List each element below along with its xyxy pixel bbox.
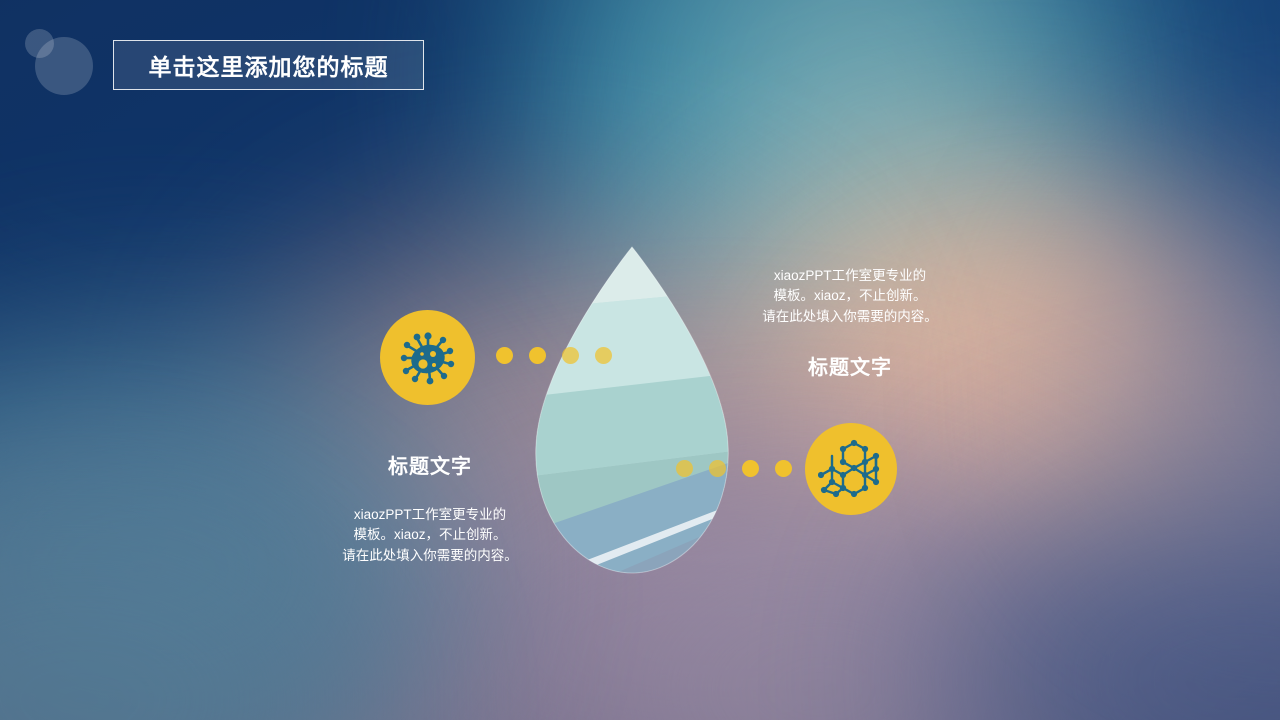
left-heading: 标题文字 [280,450,580,479]
connector-dot [562,347,579,364]
connector-dot [775,460,792,477]
connector-dot [496,347,513,364]
right-heading: 标题文字 [700,351,1000,380]
connector-dot [529,347,546,364]
connector-dot [676,460,693,477]
slide-title-box[interactable]: 单击这里添加您的标题 [113,40,424,90]
connector-dot [742,460,759,477]
bokeh-blob-peach [700,170,1280,670]
decorative-circle-large [35,37,93,95]
connector-dot [709,460,726,477]
bokeh-blob-navy-right [980,0,1280,420]
right-text-block: xiaozPPT工作室更专业的 模板。xiaoz，不止创新。 请在此处填入你需要… [700,266,1000,380]
bokeh-blob-blue-bottom-right [940,470,1280,720]
right-body-line: 请在此处填入你需要的内容。 [700,307,1000,327]
page-title: 单击这里添加您的标题 [149,48,389,82]
right-body-text: xiaozPPT工作室更专业的 模板。xiaoz，不止创新。 请在此处填入你需要… [700,266,1000,327]
left-icon-badge[interactable] [380,310,475,405]
left-body-line: xiaozPPT工作室更专业的 [280,505,580,525]
molecule-icon [818,438,884,500]
virus-icon [398,328,458,388]
left-body-line: 模板。xiaoz，不止创新。 [280,525,580,545]
left-body-line: 请在此处填入你需要的内容。 [280,546,580,566]
slide-canvas: 单击这里添加您的标题 [0,0,1280,720]
connector-dot [595,347,612,364]
right-body-line: 模板。xiaoz，不止创新。 [700,286,1000,306]
right-icon-badge[interactable] [805,423,897,515]
bokeh-blob-blue-right-mid [1080,180,1280,600]
left-text-block: 标题文字 xiaozPPT工作室更专业的 模板。xiaoz，不止创新。 请在此处… [280,450,580,566]
left-body-text: xiaozPPT工作室更专业的 模板。xiaoz，不止创新。 请在此处填入你需要… [280,505,580,566]
right-body-line: xiaozPPT工作室更专业的 [700,266,1000,286]
